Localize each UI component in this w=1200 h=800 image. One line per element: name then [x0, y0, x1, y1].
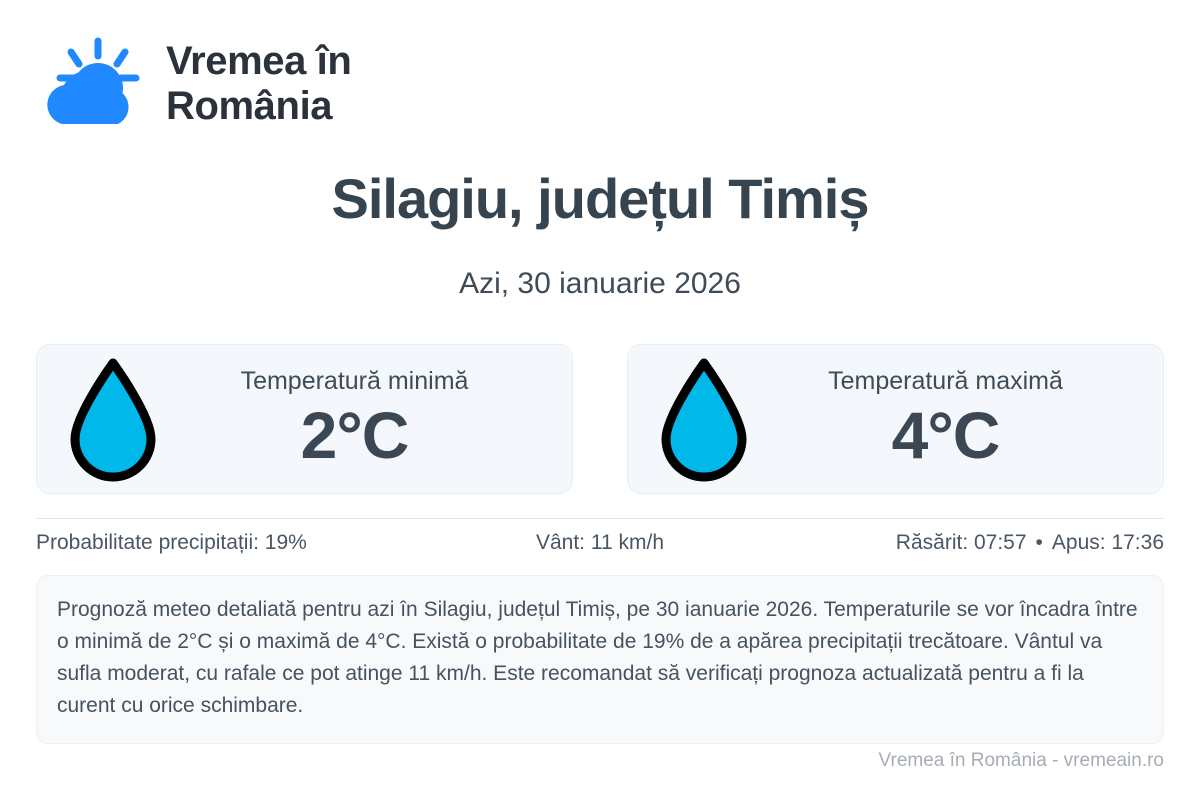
- card-min-temperature: Temperatură minimă 2°C: [36, 344, 573, 494]
- brand-name: Vremea în România: [166, 39, 436, 129]
- footer-credit: Vremea în România - vremeain.ro: [879, 750, 1164, 772]
- stat-wind: Vânt: 11 km/h: [412, 531, 788, 555]
- stats-row: Probabilitate precipitații: 19% Vânt: 11…: [36, 519, 1164, 566]
- card-max-body: Temperatură maximă 4°C: [752, 368, 1149, 471]
- card-min-body: Temperatură minimă 2°C: [161, 368, 558, 471]
- temperature-cards: Temperatură minimă 2°C Temperatură maxim…: [36, 344, 1164, 494]
- water-drop-icon: [656, 355, 752, 483]
- stat-sun-times: Răsărit: 07:57•Apus: 17:36: [788, 531, 1164, 555]
- card-min-value: 2°C: [161, 401, 548, 470]
- site-brand[interactable]: Vremea în România: [36, 0, 1164, 122]
- forecast-description: Prognoză meteo detaliată pentru azi în S…: [36, 575, 1164, 744]
- sun-cloud-icon: [36, 36, 144, 132]
- card-max-temperature: Temperatură maximă 4°C: [627, 344, 1164, 494]
- stat-separator: •: [1027, 531, 1052, 554]
- water-drop-icon: [65, 355, 161, 483]
- stat-sunset: Apus: 17:36: [1052, 531, 1164, 554]
- card-min-label: Temperatură minimă: [161, 368, 548, 396]
- card-max-value: 4°C: [752, 401, 1139, 470]
- weather-page: Vremea în România Silagiu, județul Timiș…: [0, 0, 1200, 800]
- stat-precipitation: Probabilitate precipitații: 19%: [36, 531, 412, 555]
- page-subtitle: Azi, 30 ianuarie 2026: [36, 267, 1164, 301]
- stat-sunrise: Răsărit: 07:57: [896, 531, 1027, 554]
- card-max-label: Temperatură maximă: [752, 368, 1139, 396]
- page-title: Silagiu, județul Timiș: [36, 168, 1164, 230]
